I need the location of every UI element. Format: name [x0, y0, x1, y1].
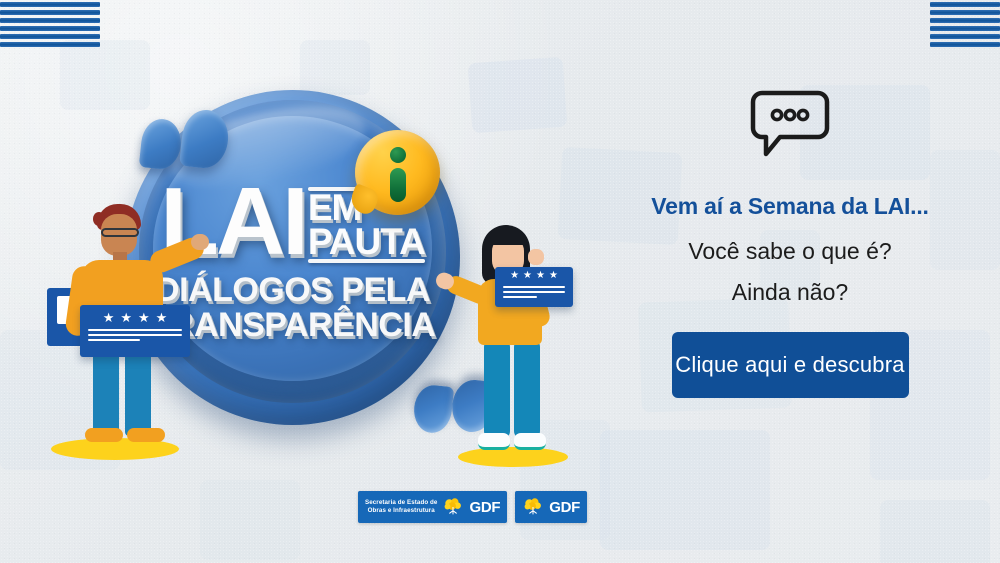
lai-artwork: LAI EM PAUTA DIÁLOGOS PELA TRANSPARÊNCIA [10, 55, 590, 465]
logo-brand: GDF [469, 499, 500, 516]
chat-bubble-dots-icon [750, 90, 830, 158]
logo-line-1: Secretaria de Estado de [365, 499, 437, 507]
star-icon: ★ [156, 311, 168, 324]
pauta-word: PAUTA [308, 225, 425, 259]
info-bubble-icon [355, 130, 440, 215]
gdf-tree-icon [522, 496, 544, 518]
subtext-line-2: Ainda não? [600, 279, 980, 306]
stripe-block-right-icon [930, 2, 1000, 47]
stripe-block-left-icon [0, 2, 100, 47]
subtext-line-1: Você sabe o que é? [600, 238, 980, 265]
promo-copy-block: Vem aí a Semana da LAI... Você sabe o qu… [600, 90, 980, 398]
star-icon: ★ [120, 311, 132, 324]
star-icon: ★ [103, 311, 115, 324]
logo-row: Secretaria de Estado de Obras e Infraest… [358, 491, 587, 523]
illustration-woman [440, 225, 590, 475]
star-card-left: ★ ★ ★ ★ [80, 305, 190, 357]
gdf-tree-icon [442, 496, 464, 518]
star-icon: ★ [138, 311, 150, 324]
promo-banner: LAI EM PAUTA DIÁLOGOS PELA TRANSPARÊNCIA [0, 0, 1000, 563]
discover-cta-button[interactable]: Clique aqui e descubra [672, 332, 909, 398]
logo-gdf[interactable]: GDF [515, 491, 587, 523]
logo-brand: GDF [549, 499, 580, 516]
page-title: Vem aí a Semana da LAI... [600, 193, 980, 220]
logo-secretaria-obras[interactable]: Secretaria de Estado de Obras e Infraest… [358, 491, 507, 523]
star-icon: ★ [510, 271, 519, 281]
rule-bottom [308, 259, 425, 263]
star-icon: ★ [536, 271, 545, 281]
star-icon: ★ [523, 271, 532, 281]
star-icon: ★ [549, 271, 558, 281]
star-card-right: ★ ★ ★ ★ [495, 267, 573, 307]
logo-line-2: Obras e Infraestrutura [365, 507, 437, 515]
